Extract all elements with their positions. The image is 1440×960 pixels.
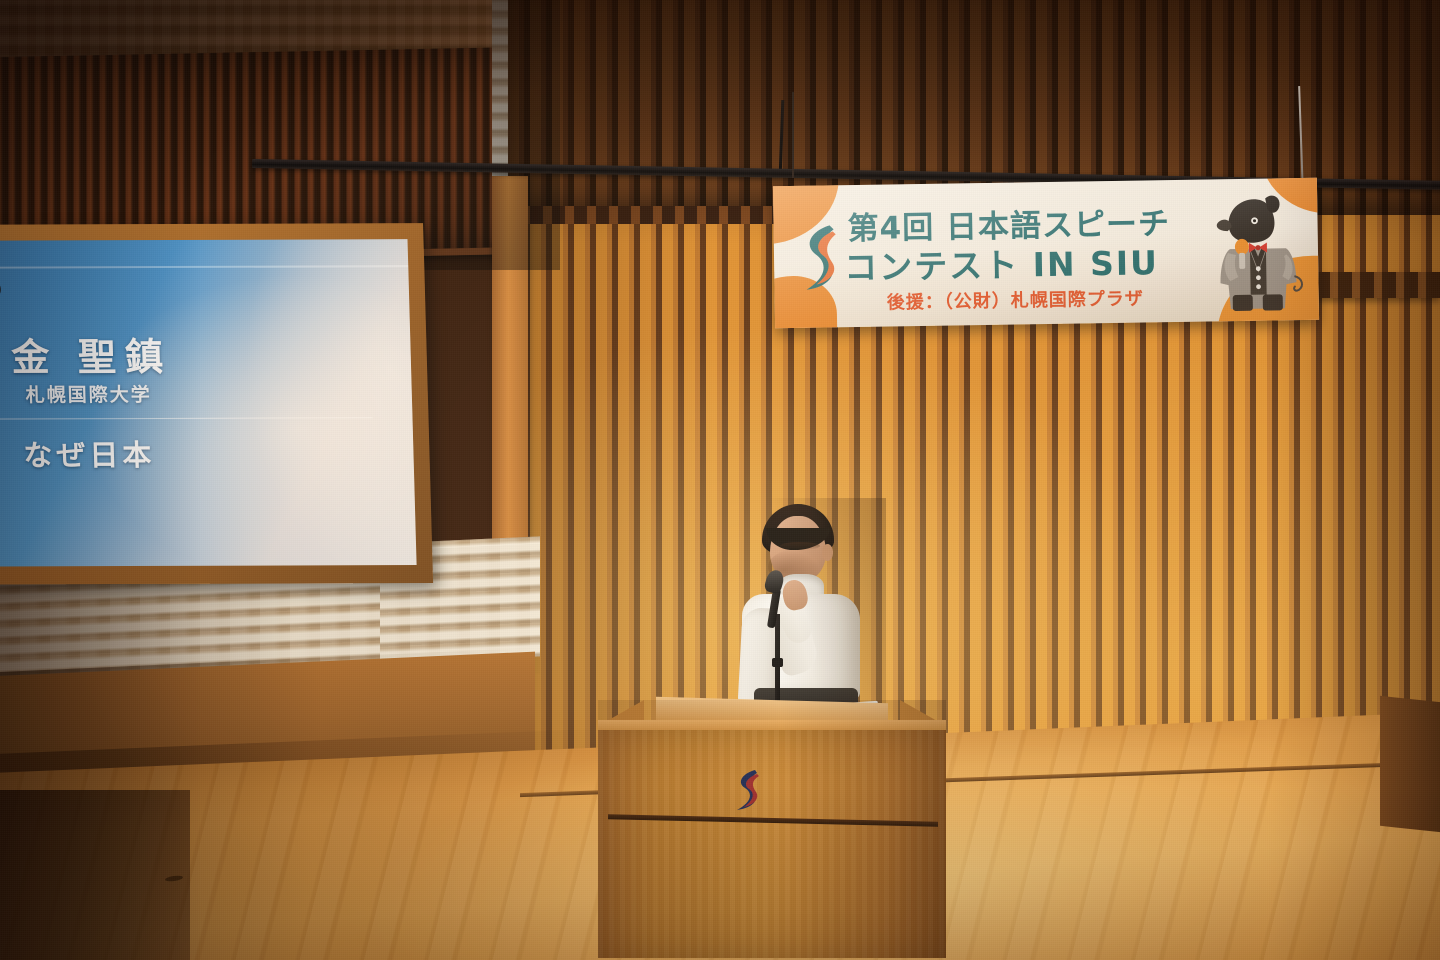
banner-headline-line2: コンテスト IN SIU — [844, 236, 1159, 289]
microphone-stand-clamp — [772, 658, 783, 667]
slide-school-name: 札幌国際大学 — [0, 380, 284, 408]
slide-divider-rule — [0, 417, 372, 420]
projection-screen-frame: ントリーNo.20 金 聖鎮 札幌国際大学 なぜ日本 — [0, 223, 433, 585]
podium-front-panel — [598, 730, 946, 958]
speaker-ear — [822, 544, 833, 561]
stage-photo: ントリーNo.20 金 聖鎮 札幌国際大学 なぜ日本 第4回 日本語スピーチ コ… — [0, 0, 1440, 960]
banner-sponsor-line: 後援：（公財）札幌国際プラザ — [887, 284, 1144, 314]
slide-top-rule — [0, 265, 408, 269]
stage-left-wing-shadow — [0, 790, 190, 960]
rhino-mascot-icon — [1205, 190, 1311, 316]
siu-s-swoosh-logo-dark-icon — [731, 768, 765, 812]
podium — [598, 700, 946, 958]
slide-entry-number: ントリーNo.20 — [0, 279, 2, 300]
speaker-person — [726, 498, 886, 718]
slide-speech-title: なぜ日本 — [0, 432, 284, 475]
banner-wire-left — [792, 92, 794, 178]
slide-speaker-name: 金 聖鎮 — [0, 326, 291, 382]
siu-s-swoosh-logo-icon — [795, 221, 844, 296]
stage-right-base-trim — [1380, 696, 1440, 834]
speaker-brow-shadow — [780, 542, 820, 550]
event-banner: 第4回 日本語スピーチ コンテスト IN SIU 後援：（公財）札幌国際プラザ — [773, 178, 1319, 329]
projection-screen-surface: ントリーNo.20 金 聖鎮 札幌国際大学 なぜ日本 — [0, 239, 417, 567]
